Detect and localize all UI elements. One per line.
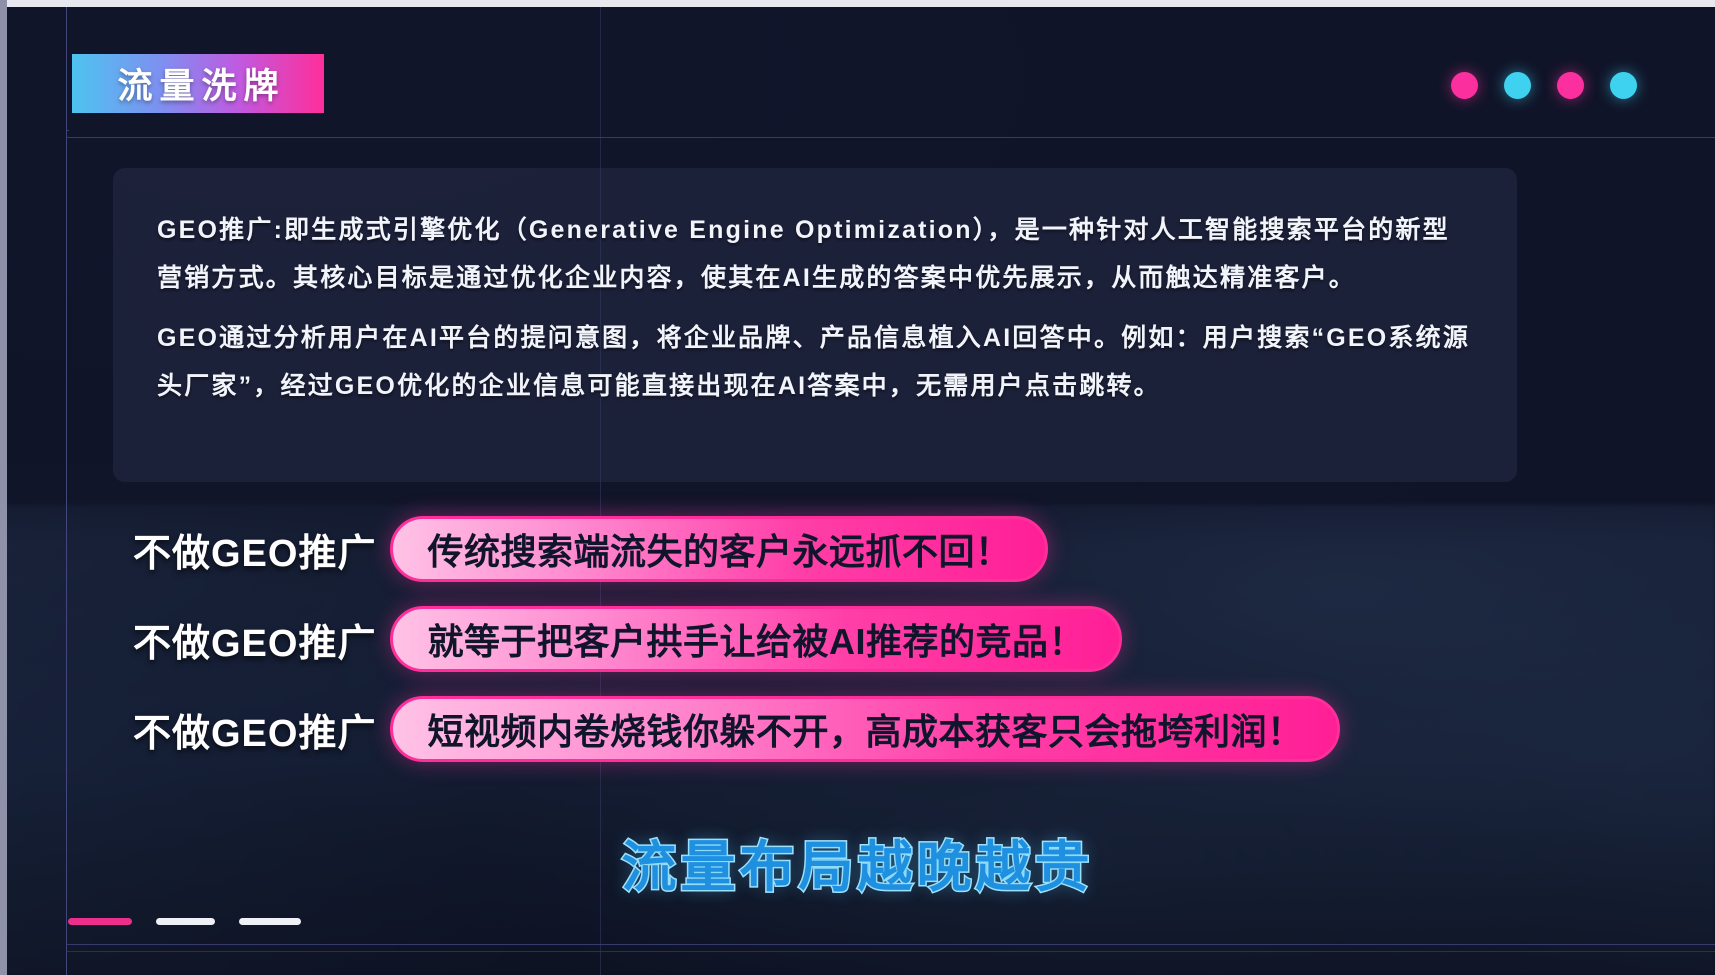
footer-headline: 流量布局越晚越贵 [621,822,1093,902]
claim-pill-text-2: 就等于把客户拱手让给被AI推荐的竞品！ [427,613,1085,665]
claim-lead-label-3: 不做GEO推广 [133,702,376,757]
footer-bar-inactive-1[interactable] [156,918,215,925]
page-title-badge: 流量洗牌 [72,54,324,113]
header-guide-line-short [66,130,69,131]
page-title: 流量洗牌 [110,58,285,109]
dot-magenta-2 [1557,72,1584,99]
claim-row: 不做GEO推广 就等于把客户拱手让给被AI推荐的竞品！ [133,606,1340,672]
description-paragraph-2: GEO通过分析用户在AI平台的提问意图，将企业品牌、产品信息植入AI回答中。例如… [157,314,1473,410]
claim-row: 不做GEO推广 短视频内卷烧钱你躲不开，高成本获客只会拖垮利润！ [133,696,1340,762]
dot-cyan-1 [1504,72,1531,99]
footer-guide-line-1 [66,944,1715,945]
footer-bar-row [68,918,301,925]
description-paragraph-1: GEO推广:即生成式引擎优化（Generative Engine Optimiz… [157,206,1473,302]
claim-pill-1: 传统搜索端流失的客户永远抓不回！ [390,516,1048,582]
claim-lead-label-2: 不做GEO推广 [133,612,376,667]
header-guide-line [66,137,1715,138]
dot-magenta-1 [1451,72,1478,99]
top-edge-bar [0,0,1715,7]
claim-lead-label-1: 不做GEO推广 [133,522,376,577]
description-panel: GEO推广:即生成式引擎优化（Generative Engine Optimiz… [113,168,1517,482]
claim-pill-text-1: 传统搜索端流失的客户永远抓不回！ [427,523,1011,575]
decorative-dot-row [1451,72,1637,99]
claim-pill-text-3: 短视频内卷烧钱你躲不开，高成本获客只会拖垮利润！ [427,703,1303,755]
footer-bar-inactive-2[interactable] [239,918,301,925]
claim-pill-2: 就等于把客户拱手让给被AI推荐的竞品！ [390,606,1122,672]
claim-row: 不做GEO推广 传统搜索端流失的客户永远抓不回！ [133,516,1340,582]
slide-canvas: 流量洗牌 GEO推广:即生成式引擎优化（Generative Engine Op… [0,0,1715,975]
claim-row-list: 不做GEO推广 传统搜索端流失的客户永远抓不回！ 不做GEO推广 就等于把客户拱… [133,516,1340,762]
footer-bar-active[interactable] [68,918,132,925]
footer-headline-wrap: 流量布局越晚越贵 [0,822,1715,902]
footer-guide-line-2 [66,951,1715,952]
claim-pill-3: 短视频内卷烧钱你躲不开，高成本获客只会拖垮利润！ [390,696,1340,762]
dot-cyan-2 [1610,72,1637,99]
